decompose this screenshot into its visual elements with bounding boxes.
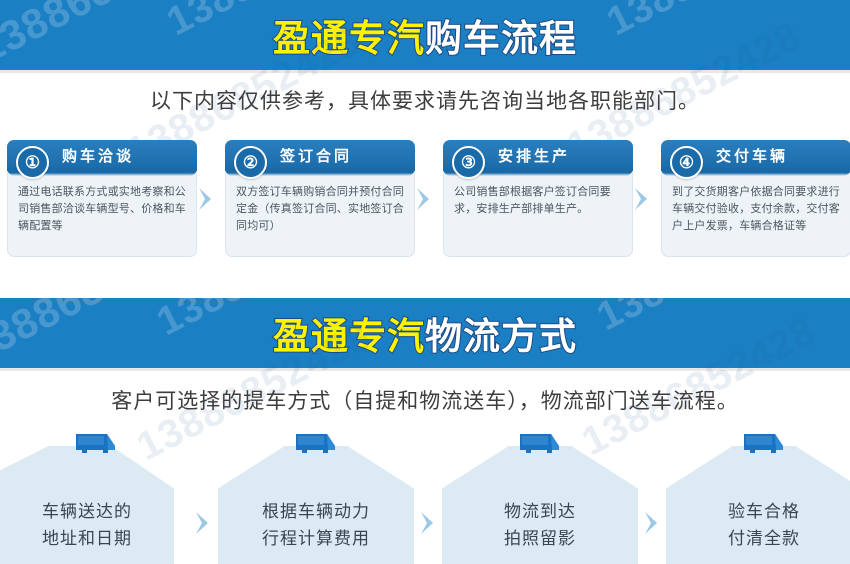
banner1-separator (0, 70, 850, 73)
chevron-right-icon (193, 510, 213, 536)
chevron-right-icon (418, 510, 438, 536)
step-description: 到了交货期客户依据合同要求进行车辆交付验收，支付余款，交付客户上户发票，车辆合格… (672, 184, 842, 235)
section1-banner-title: 盈通专汽购车流程 (0, 8, 850, 62)
brand-name: 盈通专汽 (273, 18, 425, 59)
logistics-card-line1: 验车合格 (666, 498, 850, 525)
logistics-card-line2: 拍照留影 (442, 525, 638, 552)
truck-icon (294, 430, 338, 456)
section1-banner-subject: 购车流程 (425, 18, 577, 59)
section2-banner: 盈通专汽物流方式 (0, 298, 850, 368)
step-description: 通过电话联系方式或实地考察和公司销售部洽谈车辆型号、价格和车辆配置等 (18, 184, 188, 235)
step-number-badge: ② (234, 146, 267, 179)
section1-banner: 盈通专汽购车流程 (0, 0, 850, 70)
chevron-right-icon (642, 510, 662, 536)
chevron-right-icon (414, 186, 434, 212)
logistics-card-2[interactable]: 根据车辆动力 行程计算费用 (218, 446, 414, 564)
step-card-3[interactable]: ③ 安排生产 公司销售部根据客户签订合同要求，安排生产部排单生产。 (443, 140, 633, 257)
chevron-right-icon (632, 186, 652, 212)
truck-icon (742, 430, 786, 456)
logistics-card-line2: 行程计算费用 (218, 525, 414, 552)
step-description: 公司销售部根据客户签订合同要求，安排生产部排单生产。 (454, 184, 624, 218)
step-card-2[interactable]: ② 签订合同 双方签订车辆购销合同并预付合同定金（传真签订合同、实地签订合同均可… (225, 140, 415, 257)
step-number-badge: ① (16, 146, 49, 179)
purchase-steps: ① 购车洽谈 通过电话联系方式或实地考察和公司销售部洽谈车辆型号、价格和车辆配置… (0, 140, 850, 265)
section2-banner-title: 盈通专汽物流方式 (0, 306, 850, 360)
logistics-card-text: 物流到达 拍照留影 (442, 498, 638, 552)
step-card-1[interactable]: ① 购车洽谈 通过电话联系方式或实地考察和公司销售部洽谈车辆型号、价格和车辆配置… (7, 140, 197, 257)
step-title: 签订合同 (280, 140, 409, 171)
logistics-card-line2: 付清全款 (666, 525, 850, 552)
truck-icon (518, 430, 562, 456)
chevron-right-icon (196, 186, 216, 212)
step-number-badge: ③ (452, 146, 485, 179)
logistics-card-4[interactable]: 验车合格 付清全款 (666, 446, 850, 564)
logistics-card-text: 验车合格 付清全款 (666, 498, 850, 552)
logistics-card-line1: 根据车辆动力 (218, 498, 414, 525)
logistics-card-text: 根据车辆动力 行程计算费用 (218, 498, 414, 552)
logistics-card-line2: 地址和日期 (0, 525, 174, 552)
step-title: 购车洽谈 (62, 140, 191, 171)
banner2-separator (0, 368, 850, 371)
section2-subtitle: 客户可选择的提车方式（自提和物流送车），物流部门送车流程。 (0, 385, 850, 415)
logistics-card-line1: 车辆送达的 (0, 498, 174, 525)
promo-page: 盈通专汽购车流程 以下内容仅供参考，具体要求请先咨询当地各职能部门。 ① 购车洽… (0, 0, 850, 564)
step-title: 安排生产 (498, 140, 627, 171)
logistics-card-line1: 物流到达 (442, 498, 638, 525)
step-title: 交付车辆 (716, 140, 845, 171)
section2-banner-subject: 物流方式 (425, 316, 577, 357)
logistics-card-1[interactable]: 车辆送达的 地址和日期 (0, 446, 174, 564)
step-card-4[interactable]: ④ 交付车辆 到了交货期客户依据合同要求进行车辆交付验收，支付余款，交付客户上户… (661, 140, 850, 257)
logistics-steps: 车辆送达的 地址和日期 根据车辆动力 行程计算费用 (0, 432, 850, 564)
brand-name: 盈通专汽 (273, 316, 425, 357)
section1-subtitle: 以下内容仅供参考，具体要求请先咨询当地各职能部门。 (0, 85, 850, 115)
step-description: 双方签订车辆购销合同并预付合同定金（传真签订合同、实地签订合同均可） (236, 184, 406, 235)
truck-icon (74, 430, 118, 456)
step-number-badge: ④ (670, 146, 703, 179)
logistics-card-text: 车辆送达的 地址和日期 (0, 498, 174, 552)
logistics-card-3[interactable]: 物流到达 拍照留影 (442, 446, 638, 564)
